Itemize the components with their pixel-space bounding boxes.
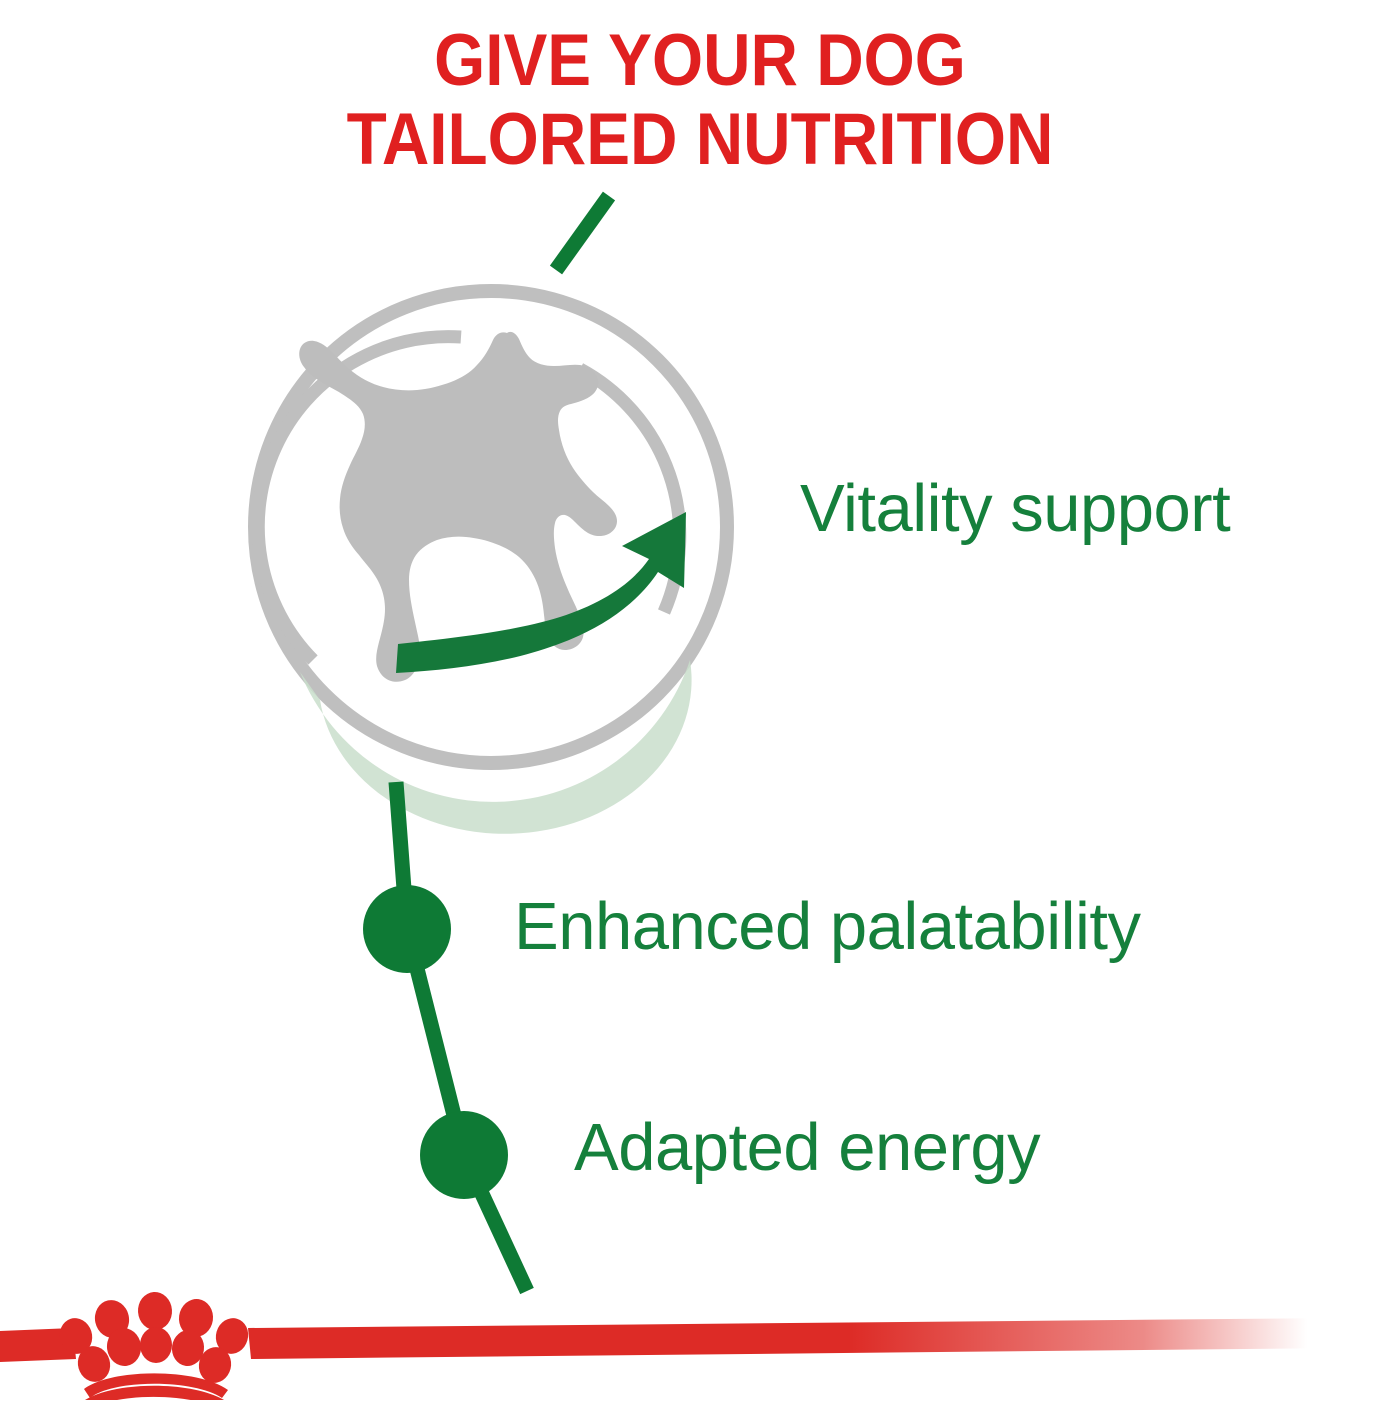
benefit-label-vitality: Vitality support	[800, 473, 1230, 545]
icon-inner-ring	[258, 337, 680, 660]
diagram-graphics-layer	[0, 0, 1400, 1400]
icon-outer-ring	[255, 291, 727, 763]
growth-arrow-icon	[396, 512, 686, 673]
icon-ground-crescent	[300, 660, 692, 834]
brand-footer-graphics	[0, 1280, 1400, 1400]
connector-top-stem	[556, 196, 609, 270]
brand-footer	[0, 1280, 1400, 1400]
brand-rule-right	[248, 1318, 1340, 1359]
headline-line-2: TAILORED NUTRITION	[70, 103, 1330, 176]
benefit-label-energy: Adapted energy	[574, 1112, 1040, 1184]
royal-canin-crown-logo	[55, 1291, 252, 1400]
jumping-dog-icon	[299, 332, 617, 682]
connector-dot-1	[363, 885, 451, 973]
benefit-label-palatability: Enhanced palatability	[514, 891, 1140, 963]
connector-dot-2	[420, 1111, 508, 1199]
page-title: GIVE YOUR DOG TAILORED NUTRITION	[70, 24, 1330, 176]
promo-panel: GIVE YOUR DOG TAILORED NUTRITION	[0, 0, 1400, 1400]
headline-line-1: GIVE YOUR DOG	[70, 24, 1330, 97]
connector-path	[396, 782, 527, 1291]
